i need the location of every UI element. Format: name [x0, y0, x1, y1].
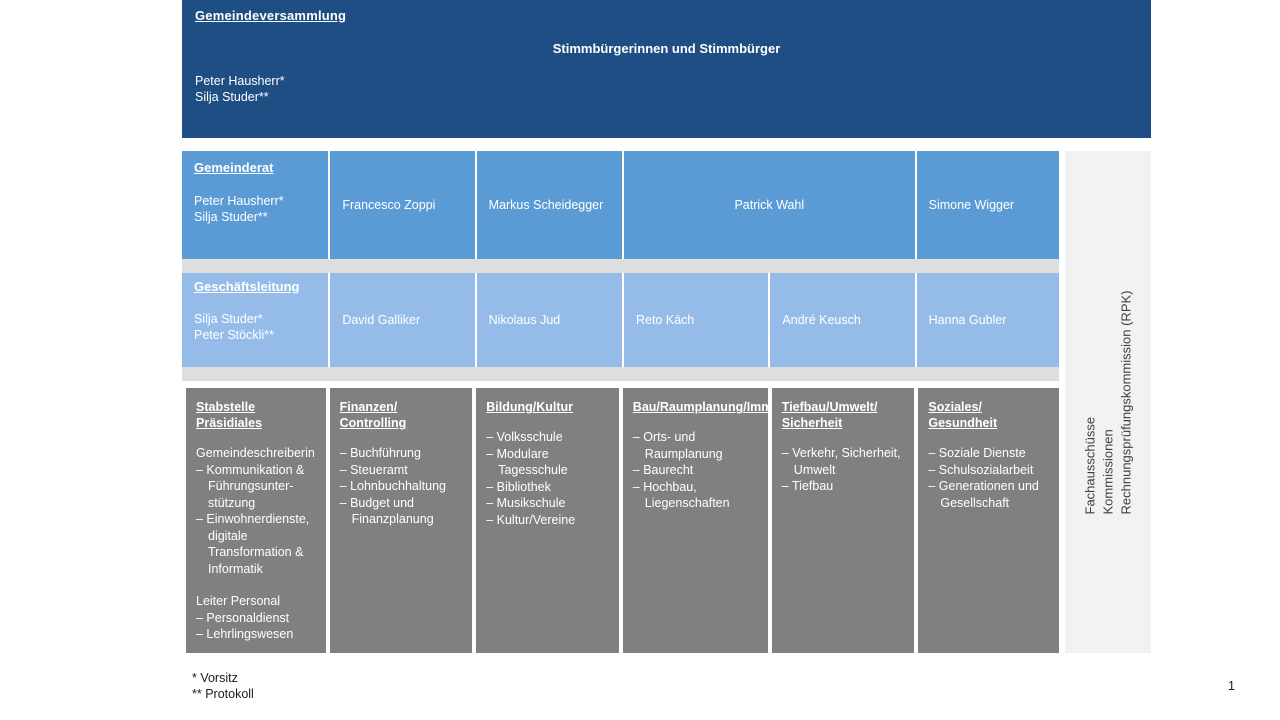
department-title: Soziales/ Gesundheit [928, 399, 1049, 431]
management-member-cell: Nikolaus Jud [477, 273, 622, 367]
council-member-name: Patrick Wahl [624, 151, 915, 259]
footnote-vorsitz: * Vorsitz [192, 670, 254, 686]
commissions-line: Kommissionen [1100, 429, 1117, 514]
department-lead: Gemeindeschreiberin [196, 445, 316, 462]
assembly-name-1: Peter Hausherr* [195, 73, 285, 89]
management-member-cell: Reto Käch [624, 273, 768, 367]
department-item: – Buchführung [340, 445, 463, 462]
assembly-title: Gemeindeversammlung [195, 8, 346, 23]
department-item: – Einwohnerdienste, digitale Transformat… [196, 511, 316, 577]
department-cell-bildung-kultur: Bildung/Kultur – Volksschule – Modulare … [476, 388, 619, 653]
council-name-2: Silja Studer** [194, 209, 284, 225]
band-segment [477, 259, 622, 273]
band-segment [917, 367, 1059, 381]
management-row: Geschäftsleitung Silja Studer* Peter Stö… [182, 273, 1059, 367]
band-segment [624, 367, 768, 381]
management-member-cell: David Galliker [330, 273, 474, 367]
department-cell-bau-raumplanung-immobilien: Bau/Raumplanung/Immobilien – Orts- und R… [623, 388, 768, 653]
department-item: – Kommunikation & Führungsunter-stützung [196, 462, 316, 512]
department-title: Bau/Raumplanung/Immobilien [633, 399, 758, 415]
council-name-1: Peter Hausherr* [194, 193, 284, 209]
department-item: – Tiefbau [782, 478, 905, 495]
departments-row: Stabstelle Präsidiales Gemeindeschreiber… [186, 388, 1059, 653]
department-item: – Budget und Finanzplanung [340, 495, 463, 528]
council-member-cell: Francesco Zoppi [330, 151, 474, 259]
department-item: – Baurecht [633, 462, 758, 479]
department-cell-stabstelle-praesidiales: Stabstelle Präsidiales Gemeindeschreiber… [186, 388, 326, 653]
council-title: Gemeinderat [194, 160, 273, 175]
management-member-cell: Hanna Gubler [917, 273, 1059, 367]
council-member-cell: Patrick Wahl [624, 151, 915, 259]
department-item: – Generationen und Gesellschaft [928, 478, 1049, 511]
department-item: – Verkehr, Sicherheit, Umwelt [782, 445, 905, 478]
commissions-panel-text: Rechnungsprüfungskommission (RPK) Kommis… [1082, 290, 1135, 514]
management-member-cell: André Keusch [770, 273, 914, 367]
assembly-box: Gemeindeversammlung Stimmbürgerinnen und… [182, 0, 1151, 138]
department-cell-soziales-gesundheit: Soziales/ Gesundheit – Soziale Dienste –… [918, 388, 1059, 653]
department-item: – Lehrlingswesen [196, 626, 316, 643]
management-member-name: David Galliker [342, 273, 420, 367]
council-member-cell: Simone Wigger [917, 151, 1059, 259]
department-body: – Orts- und Raumplanung – Baurecht – Hoc… [633, 429, 758, 512]
council-header-cell: Gemeinderat Peter Hausherr* Silja Studer… [182, 151, 328, 259]
band-segment [182, 259, 328, 273]
band-segment [770, 259, 914, 273]
department-cell-tiefbau-umwelt-sicherheit: Tiefbau/Umwelt/ Sicherheit – Verkehr, Si… [772, 388, 915, 653]
department-body: – Volksschule – Modulare Tagesschule – B… [486, 429, 609, 528]
management-member-name: André Keusch [782, 273, 861, 367]
department-body: – Buchführung – Steueramt – Lohnbuchhalt… [340, 445, 463, 528]
footnotes: * Vorsitz ** Protokoll [192, 670, 254, 702]
council-names: Peter Hausherr* Silja Studer** [194, 193, 284, 225]
department-title: Stabstelle Präsidiales [196, 399, 316, 431]
assembly-center-label: Stimmbürgerinnen und Stimmbürger [182, 41, 1151, 56]
page-number: 1 [1228, 679, 1235, 693]
department-title: Finanzen/ Controlling [340, 399, 463, 431]
management-title: Geschäftsleitung [194, 279, 299, 294]
department-item: – Lohnbuchhaltung [340, 478, 463, 495]
management-names: Silja Studer* Peter Stöckli** [194, 311, 274, 343]
band-segment [182, 367, 328, 381]
management-member-name: Nikolaus Jud [489, 273, 561, 367]
org-chart-slide: Gemeindeversammlung Stimmbürgerinnen und… [0, 0, 1280, 720]
council-row: Gemeinderat Peter Hausherr* Silja Studer… [182, 151, 1059, 259]
department-item: – Personaldienst [196, 610, 316, 627]
management-name-2: Peter Stöckli** [194, 327, 274, 343]
department-spacer [196, 577, 316, 593]
band-segment [330, 367, 474, 381]
department-body: Gemeindeschreiberin – Kommunikation & Fü… [196, 445, 316, 643]
department-title: Bildung/Kultur [486, 399, 609, 415]
council-member-cell: Markus Scheidegger [477, 151, 622, 259]
management-name-1: Silja Studer* [194, 311, 274, 327]
band-segment [917, 259, 1059, 273]
department-item: – Hochbau, Liegenschaften [633, 479, 758, 512]
band-segment [770, 367, 914, 381]
department-item: – Orts- und Raumplanung [633, 429, 758, 462]
department-cell-finanzen-controlling: Finanzen/ Controlling – Buchführung – St… [330, 388, 473, 653]
council-member-name: Francesco Zoppi [342, 151, 435, 259]
band-segment [624, 259, 768, 273]
band-segment [477, 367, 622, 381]
council-member-name: Markus Scheidegger [489, 151, 604, 259]
commissions-line: Fachausschüsse [1082, 416, 1099, 514]
department-item: – Kultur/Vereine [486, 512, 609, 529]
department-lead: Leiter Personal [196, 593, 316, 610]
department-item: – Modulare Tagesschule [486, 446, 609, 479]
commissions-line: Rechnungsprüfungskommission (RPK) [1118, 290, 1135, 514]
department-item: – Musikschule [486, 495, 609, 512]
department-body: – Verkehr, Sicherheit, Umwelt – Tiefbau [782, 445, 905, 495]
department-item: – Schulsozialarbeit [928, 462, 1049, 479]
band-segment [330, 259, 474, 273]
department-body: – Soziale Dienste – Schulsozialarbeit – … [928, 445, 1049, 511]
department-title: Tiefbau/Umwelt/ Sicherheit [782, 399, 905, 431]
connector-band-lower [182, 367, 1059, 381]
department-item: – Steueramt [340, 462, 463, 479]
assembly-name-2: Silja Studer** [195, 89, 285, 105]
department-item: – Volksschule [486, 429, 609, 446]
commissions-panel: Rechnungsprüfungskommission (RPK) Kommis… [1065, 151, 1151, 653]
management-member-name: Reto Käch [636, 273, 694, 367]
assembly-names: Peter Hausherr* Silja Studer** [195, 73, 285, 105]
footnote-protokoll: ** Protokoll [192, 686, 254, 702]
department-item: – Soziale Dienste [928, 445, 1049, 462]
management-member-name: Hanna Gubler [929, 273, 1007, 367]
council-member-name: Simone Wigger [929, 151, 1014, 259]
department-item: – Bibliothek [486, 479, 609, 496]
management-header-cell: Geschäftsleitung Silja Studer* Peter Stö… [182, 273, 328, 367]
connector-band-upper [182, 259, 1059, 273]
